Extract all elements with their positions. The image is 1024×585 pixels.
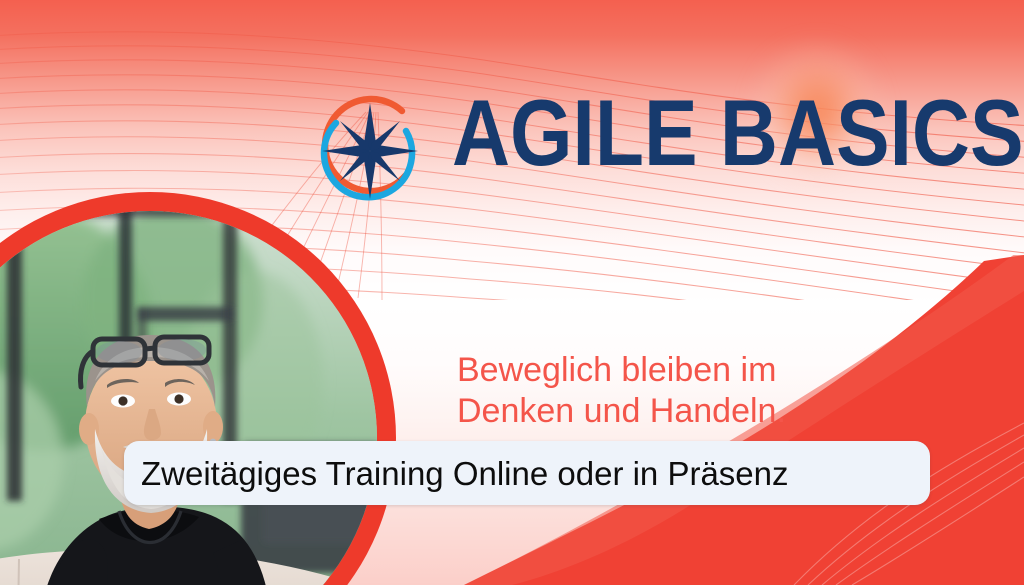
portrait-photo-artwork — [0, 211, 377, 585]
page-title: AGILE BASICS — [452, 86, 1024, 180]
training-format-label: Zweitägiges Training Online oder in Präs… — [141, 457, 789, 490]
subtitle-tagline: Beweglich bleiben im Denken und Handeln. — [457, 350, 786, 433]
agile-basics-promo-banner: AGILE BASICS Beweglich bleiben im Denken… — [0, 0, 1024, 585]
portrait-photo — [0, 211, 377, 585]
portrait-photo-circle — [0, 192, 396, 585]
training-format-pill: Zweitägiges Training Online oder in Präs… — [124, 441, 930, 505]
compass-rose-logo — [310, 89, 430, 211]
